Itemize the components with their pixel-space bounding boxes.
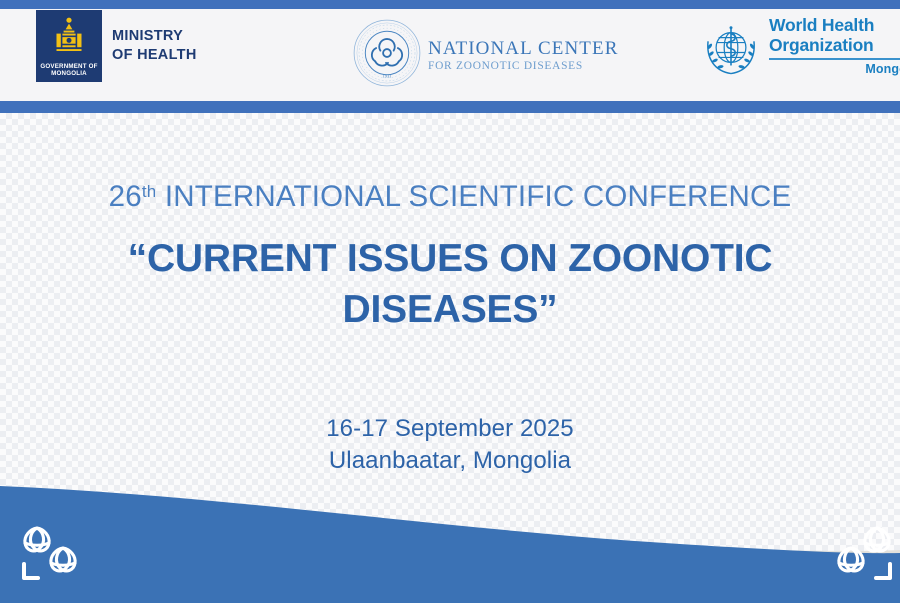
emblem-caption: GOVERNMENT OF MONGOLIA <box>40 63 97 78</box>
bottom-wave-decoration <box>0 440 900 603</box>
conference-theme-line-2: DISEASES” <box>0 284 900 335</box>
conference-line-1-rest: INTERNATIONAL SCIENTIFIC CONFERENCE <box>156 180 791 213</box>
top-accent-bar <box>0 0 900 9</box>
national-center-zoonotic-diseases-logo: 1931 NATIONAL CENTER FOR ZOONOTIC DISEAS… <box>352 18 618 88</box>
conference-title-slide: GOVERNMENT OF MONGOLIA MINISTRY OF HEALT… <box>0 0 900 603</box>
ministry-of-health-label: MINISTRY OF HEALTH <box>112 27 197 65</box>
conference-theme: “CURRENT ISSUES ON ZOONOTIC DISEASES” <box>0 233 900 335</box>
who-name-line-1: World Health <box>769 16 900 36</box>
who-mongolia-logo: World Health Organization Mongolia <box>700 16 900 81</box>
mongolian-knot-ornament-right-icon <box>812 524 898 586</box>
conference-line-1: 26th INTERNATIONAL SCIENTIFIC CONFERENCE <box>0 174 900 215</box>
ministry-label-line-1: MINISTRY <box>112 27 197 46</box>
conference-title-block: 26th INTERNATIONAL SCIENTIFIC CONFERENCE… <box>0 174 900 335</box>
zoonotic-biohazard-seal-icon: 1931 <box>352 18 422 88</box>
who-emblem-icon <box>700 19 762 81</box>
ministry-label-line-2: OF HEALTH <box>112 46 197 65</box>
conference-edition-ordinal: th <box>142 182 157 201</box>
national-center-name-line-2: FOR ZOONOTIC DISEASES <box>428 59 618 73</box>
seal-year: 1931 <box>382 74 391 79</box>
header-divider-bar <box>0 101 900 113</box>
conference-theme-line-1: “CURRENT ISSUES ON ZOONOTIC <box>0 233 900 284</box>
who-name-line-2: Organization <box>769 36 900 56</box>
soyombo-symbol-icon <box>52 16 86 60</box>
national-center-name: NATIONAL CENTER FOR ZOONOTIC DISEASES <box>428 38 618 73</box>
who-country-label: Mongolia <box>769 62 900 76</box>
who-wordmark: World Health Organization Mongolia <box>769 16 900 76</box>
national-center-name-line-1: NATIONAL CENTER <box>428 38 618 59</box>
mongolia-state-emblem-icon: GOVERNMENT OF MONGOLIA <box>36 10 102 82</box>
emblem-caption-line-1: GOVERNMENT OF <box>40 63 97 71</box>
ministry-of-health-logo: GOVERNMENT OF MONGOLIA MINISTRY OF HEALT… <box>36 10 197 82</box>
conference-edition-number: 26 <box>109 180 142 213</box>
who-divider-rule <box>769 58 900 60</box>
mongolian-knot-ornament-left-icon <box>16 524 102 586</box>
emblem-caption-line-2: MONGOLIA <box>40 70 97 78</box>
